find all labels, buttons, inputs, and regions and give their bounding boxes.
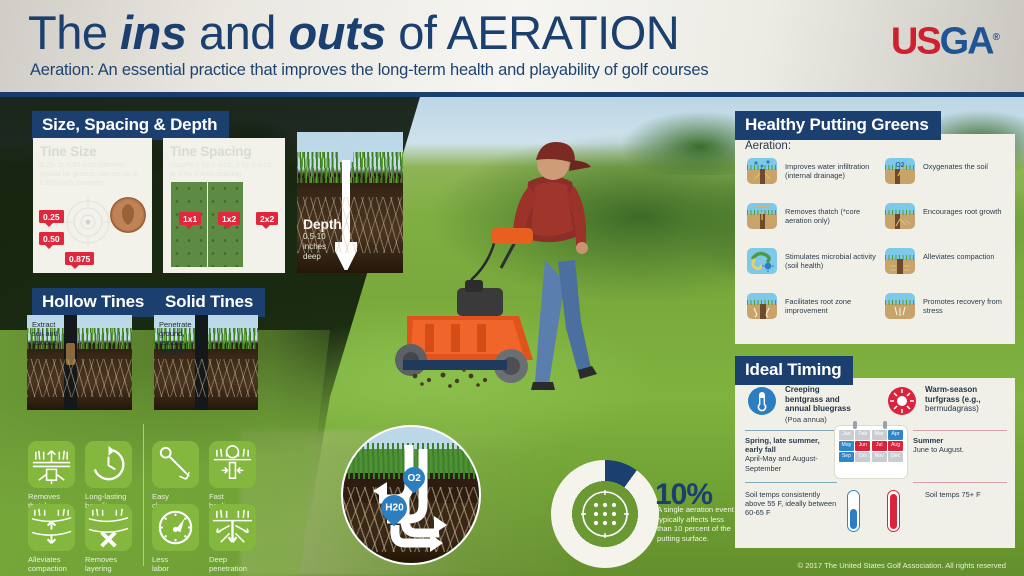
warm-divider-top	[913, 430, 1007, 431]
usga-logo: USGA®	[891, 18, 1000, 62]
icon-tile-removes-layering	[85, 504, 132, 551]
gauge-icon	[152, 504, 199, 551]
calendar-cell-mar: Mar	[872, 430, 887, 440]
label-root-zone-improvement: Facilitates root zone improvement	[785, 298, 873, 316]
depth-line-1: 0.5-10	[303, 232, 326, 242]
icon-tile-fast-healing	[209, 441, 256, 488]
tine-size-title: Tine Size	[40, 144, 96, 159]
usga-logo-ga: GA	[940, 21, 993, 63]
cool-season-window-detail: April-May and August-September	[745, 454, 818, 472]
section-heading-healthy-putting-greens: Healthy Putting Greens	[735, 111, 941, 140]
title-emphasis-ins: ins	[120, 6, 186, 59]
warm-season-window: Summer June to August.	[913, 436, 1003, 454]
root-growth-icon	[885, 203, 915, 229]
page-subtitle: Aeration: An essential practice that imp…	[30, 61, 708, 80]
thermometer-cool-icon	[747, 386, 777, 416]
depth-hole-top	[338, 132, 353, 162]
cool-divider-bottom	[745, 482, 837, 483]
calendar-cell-may: May	[839, 441, 854, 451]
calendar-cell-jun: Jun	[855, 441, 870, 451]
label-removes-thatch-green: Removes thatch (*core aeration only)	[785, 208, 875, 226]
warm-title-line-3: bermudagrass)	[925, 404, 1009, 414]
solid-caption-line-2: ground,	[159, 329, 192, 338]
label-oxygenates-soil: Oxygenates the soil	[923, 163, 1007, 172]
spacing-grid-divider	[207, 182, 208, 267]
solid-tine-caption: Penetrate ground, remove nothing	[159, 320, 192, 356]
calendar-month-grid: JanFebMarAprMayJunJulAugSepOctNovDec	[835, 426, 907, 466]
tine-spacing-description: Usually 1-by-1-inch, 1-by-2-inch or 2-by…	[170, 160, 278, 178]
icon-tile-easy-cleanup	[152, 441, 199, 488]
depth-arrow-icon	[335, 160, 357, 270]
label-alleviates-compaction-green: Alleviates compaction	[923, 253, 1007, 262]
o2-badge-label: O2	[407, 473, 420, 484]
cool-season-window-title: Spring, late summer, early fall	[745, 436, 820, 454]
layering-x-icon	[85, 504, 132, 551]
usga-logo-us: US	[891, 21, 940, 63]
cool-title-line-1: Creeping	[785, 385, 877, 395]
icon-tile-removes-thatch	[28, 441, 75, 488]
thatch-icon	[747, 203, 777, 229]
tag-spacing-1x2: 1x2	[218, 212, 240, 225]
solid-caption-line-3: remove	[159, 338, 192, 347]
calendar-cell-feb: Feb	[855, 430, 870, 440]
panel-ideal-timing: Creeping bentgrass and annual bluegrass …	[735, 378, 1015, 548]
cool-season-title: Creeping bentgrass and annual bluegrass	[785, 385, 877, 414]
warm-season-window-detail: June to August.	[913, 445, 964, 454]
label-deep-penetration: Deeppenetration	[209, 555, 269, 573]
h2o-badge-label: H20	[385, 503, 403, 514]
tag-tine-size-2: 0.875	[65, 252, 94, 265]
usga-logo-registered: ®	[993, 32, 1000, 43]
tag-tine-size-0: 0.25	[39, 210, 64, 223]
oxygen-water-exchange-diagram: O2 H20	[341, 425, 481, 565]
calendar-cell-jul: Jul	[872, 441, 887, 451]
thatch-removal-icon	[28, 441, 75, 488]
cool-season-subtitle: (Poa annua)	[785, 415, 827, 424]
hollow-caption-line-2: soil and	[32, 329, 58, 338]
title-part-1: The	[28, 6, 120, 59]
warm-title-line-2: turfgrass (e.g.,	[925, 395, 1009, 405]
cool-title-line-3: annual bluegrass	[785, 404, 877, 414]
clock-icon	[85, 441, 132, 488]
oxygen-soil-icon: O2	[885, 158, 915, 184]
solid-caption-line-4: nothing	[159, 347, 192, 356]
recovery-icon	[885, 293, 915, 319]
warm-season-title: Warm-season turfgrass (e.g., bermudagras…	[925, 385, 1009, 414]
thermometer-cool-gauge	[847, 490, 860, 532]
cool-season-window: Spring, late summer, early fall April-Ma…	[745, 436, 831, 473]
copyright-notice: © 2017 The United States Golf Associatio…	[798, 561, 1007, 570]
icon-tile-less-labor	[152, 504, 199, 551]
calendar-cell-apr: Apr	[888, 430, 903, 440]
solid-tine-photo: Penetrate ground, remove nothing	[154, 315, 258, 410]
poster-header: The ins and outs of AERATION Aeration: A…	[0, 0, 1024, 97]
cool-divider-top	[745, 430, 837, 431]
depth-line-2: inches	[303, 242, 326, 252]
section-heading-hollow-tines: Hollow Tines	[32, 288, 156, 317]
compaction-arrows-icon	[28, 504, 75, 551]
calendar-cell-nov: Nov	[872, 452, 887, 462]
sun-icon	[887, 386, 917, 416]
penny-scale-reference-icon	[109, 196, 147, 234]
warm-title-line-1: Warm-season	[925, 385, 1009, 395]
title-emphasis-outs: outs	[289, 6, 386, 59]
calendar-ring-right	[883, 421, 887, 429]
label-alleviates-compaction: Alleviatescompaction	[28, 555, 88, 573]
section-heading-ideal-timing: Ideal Timing	[735, 356, 853, 385]
label-less-labor: Lesslabor	[152, 555, 212, 573]
hollow-caption-line-4: thatch	[32, 347, 58, 356]
card-tine-size: Tine Size 0.25- to 0.50-inch diameter ty…	[33, 138, 152, 273]
cool-title-line-2: bentgrass and	[785, 395, 877, 405]
page-title: The ins and outs of AERATION	[28, 5, 679, 61]
hollow-tine-photo: Extract soil and remove thatch	[27, 315, 132, 410]
calendar-cell-oct: Oct	[855, 452, 870, 462]
rake-icon	[152, 441, 199, 488]
fast-healing-icon	[209, 441, 256, 488]
compaction-icon	[885, 248, 915, 274]
label-removes-layering: Removeslayering	[85, 555, 145, 573]
aerator-operator-illustration	[395, 120, 645, 420]
hollow-caption-line-3: remove	[32, 338, 58, 347]
warm-soil-temp: Soil temps 75+ F	[925, 490, 995, 499]
hollow-tine-caption: Extract soil and remove thatch	[32, 320, 58, 356]
warm-season-window-title: Summer	[913, 436, 943, 445]
thermometer-warm-gauge	[887, 490, 900, 532]
extracted-soil-core	[66, 343, 75, 365]
warm-divider-bottom	[913, 482, 1007, 483]
calendar-cell-aug: Aug	[888, 441, 903, 451]
depth-line-3: deep	[303, 252, 326, 262]
air-water-flow-arrows-icon	[343, 427, 481, 565]
solid-caption-line-1: Penetrate	[159, 320, 192, 329]
icon-tile-deep-penetration	[209, 504, 256, 551]
label-microbial-activity: Stimulates microbial activity (soil heal…	[785, 253, 877, 271]
infographic-poster: The ins and outs of AERATION Aeration: A…	[0, 0, 1024, 576]
tag-spacing-1x1: 1x1	[179, 212, 201, 225]
tag-tine-size-1: 0.50	[39, 232, 64, 245]
green-holes-pattern-icon	[577, 486, 633, 542]
section-heading-size-spacing-depth: Size, Spacing & Depth	[32, 111, 229, 140]
deep-penetration-icon	[209, 504, 256, 551]
hollow-caption-line-1: Extract	[32, 320, 58, 329]
root-zone-icon	[747, 293, 777, 319]
section-heading-solid-tines: Solid Tines	[155, 288, 265, 317]
tine-spacing-title: Tine Spacing	[170, 144, 251, 159]
icon-tile-alleviates-compaction	[28, 504, 75, 551]
depth-values: 0.5-10 inches deep	[303, 232, 326, 262]
panel-healthy-putting-greens: Aeration: Improves water infiltration (i…	[735, 134, 1015, 344]
title-part-3: of AERATION	[386, 6, 680, 59]
card-depth: Depth 0.5-10 inches deep	[297, 132, 403, 273]
hollow-tine-shaft	[64, 315, 77, 410]
icon-tile-long-lasting-benefits	[85, 441, 132, 488]
calendar-ring-left	[853, 421, 857, 429]
cool-soil-temp: Soil temps consistently above 55 F, idea…	[745, 490, 837, 518]
tine-size-description: 0.25- to 0.50-inch diameter typical for …	[40, 160, 144, 187]
label-encourages-root-growth: Encourages root growth	[923, 208, 1007, 217]
water-infiltration-icon	[747, 158, 777, 184]
calendar-cell-jan: Jan	[839, 430, 854, 440]
tag-spacing-2x2: 2x2	[256, 212, 278, 225]
card-tine-spacing: Tine Spacing Usually 1-by-1-inch, 1-by-2…	[163, 138, 285, 273]
calendar-cell-sep: Sep	[839, 452, 854, 462]
aeration-intro-label: Aeration:	[745, 140, 791, 152]
aeration-calendar: JanFebMarAprMayJunJulAugSepOctNovDec	[835, 426, 907, 478]
label-water-infiltration: Improves water infiltration (internal dr…	[785, 163, 873, 181]
solid-tine-shaft	[195, 315, 208, 410]
title-part-2: and	[186, 6, 288, 59]
tine-diameter-target-icon	[61, 194, 115, 248]
depth-title: Depth	[303, 216, 342, 232]
microbial-icon	[747, 248, 777, 274]
chart-annotation: A single aeration event typically affect…	[657, 505, 735, 543]
label-promotes-recovery: Promotes recovery from stress	[923, 298, 1005, 316]
calendar-cell-dec: Dec	[888, 452, 903, 462]
